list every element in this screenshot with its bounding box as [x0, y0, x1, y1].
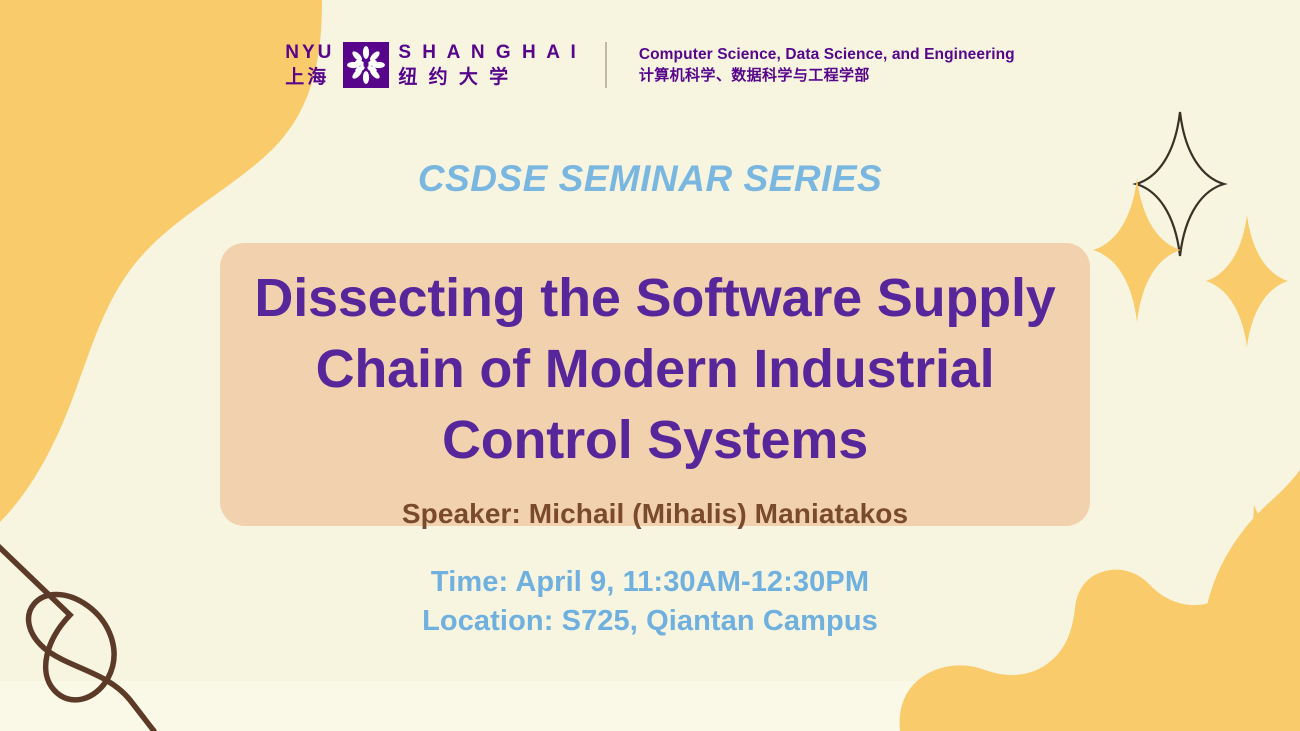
logo-divider — [605, 42, 607, 88]
talk-speaker: Speaker: Michail (Mihalis) Maniatakos — [402, 498, 908, 530]
nyu-logo-english-left-text: NYU — [285, 43, 334, 63]
nyu-lockup-left: NYU 上海 — [285, 43, 334, 88]
department-name-chinese: 计算机科学、数据科学与工程学部 — [639, 67, 1015, 84]
department-name: Computer Science, Data Science, and Engi… — [639, 46, 1015, 84]
event-location: Location: S725, Qiantan Campus — [0, 602, 1300, 641]
header: NYU 上海 — [0, 42, 1300, 88]
nyu-lockup-right: S H A N G H A I 纽 约 大 学 — [398, 43, 578, 88]
department-name-english: Computer Science, Data Science, and Engi… — [639, 46, 1015, 63]
talk-title: Dissecting the Software Supply Chain of … — [252, 263, 1058, 476]
nyu-shanghai-logo: NYU 上海 — [285, 42, 1015, 88]
sparkle-filled-right — [1206, 215, 1288, 347]
bottom-strip — [0, 681, 1300, 731]
nyu-logo-english-right-text: S H A N G H A I — [398, 43, 578, 63]
event-details: Time: April 9, 11:30AM-12:30PM Location:… — [0, 563, 1300, 641]
seminar-poster: NYU 上海 — [0, 0, 1300, 731]
seminar-series-kicker: CSDSE SEMINAR SERIES — [0, 158, 1300, 200]
nyu-logo-chinese-left-text: 上海 — [285, 67, 329, 88]
talk-title-card: Dissecting the Software Supply Chain of … — [220, 243, 1090, 526]
nyu-torch-emblem-mark — [343, 42, 389, 88]
event-time: Time: April 9, 11:30AM-12:30PM — [0, 563, 1300, 602]
nyu-lockup-inner: NYU 上海 — [285, 42, 579, 88]
nyu-logo-chinese-right-text: 纽 约 大 学 — [398, 67, 511, 88]
